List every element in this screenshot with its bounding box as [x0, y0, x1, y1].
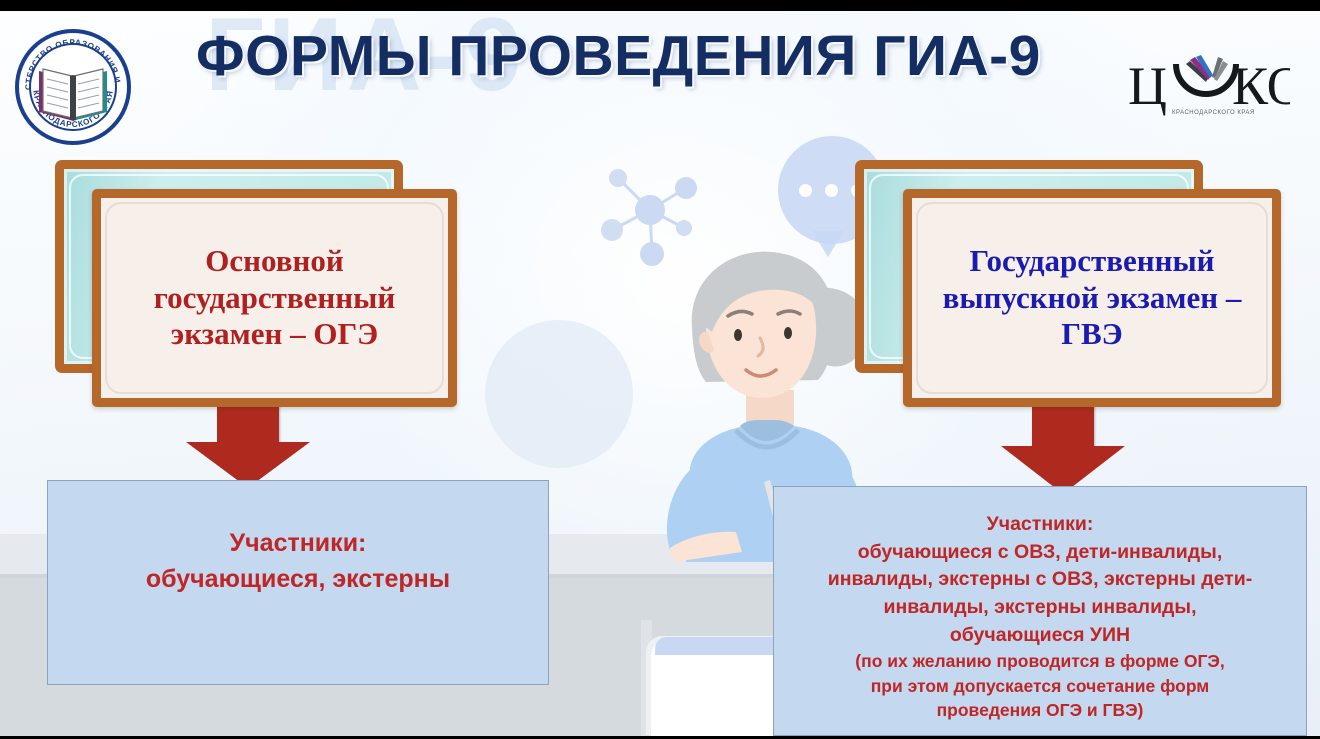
letterbox-top [0, 0, 1320, 11]
down-arrow-icon-right [1000, 392, 1125, 496]
card-oge-label: Основной государственный экзамен – ОГЭ [121, 243, 428, 354]
circle-decoration [485, 320, 633, 468]
participants-right-note: (по их желанию проводится в форме ОГЭ, [774, 649, 1306, 674]
participants-right-line: инвалиды, экстерны инвалиды, [774, 594, 1306, 622]
participants-right-note: проведения ОГЭ и ГВЭ) [774, 698, 1306, 723]
cko-letter-ts: Ц [1128, 56, 1167, 116]
cko-logo: Ц КО КРАСНОДАРСКОГО КРАЯ [1128, 48, 1290, 122]
card-gve-group: Государственный выпускной экзамен – ГВЭ [855, 160, 1305, 400]
participants-box-gve: Участники: обучающиеся с ОВЗ, дети-инвал… [773, 486, 1307, 736]
participants-box-oge: Участники: обучающиеся, экстерны [47, 480, 549, 685]
card-gve-label: Государственный выпускной экзамен – ГВЭ [932, 243, 1252, 354]
cko-subtext: КРАСНОДАРСКОГО КРАЯ [1172, 110, 1255, 116]
ministry-of-education-krasnodar-logo: МИНИСТЕРСТВО ОБРАЗОВАНИЯ И НАУКИ КРАСНОД… [12, 26, 134, 148]
card-gve[interactable]: Государственный выпускной экзамен – ГВЭ [903, 189, 1281, 407]
participants-right-line: обучающиеся с ОВЗ, дети-инвалиды, [774, 539, 1306, 567]
card-oge-group: Основной государственный экзамен – ОГЭ [55, 160, 495, 400]
participants-left-body: обучающиеся, экстерны [146, 565, 450, 593]
participants-right-heading: Участники: [774, 511, 1306, 539]
page-title: ФОРМЫ ПРОВЕДЕНИЯ ГИА-9 [196, 26, 1096, 88]
open-book-icon [39, 69, 107, 121]
participants-right-line: инвалиды, экстерны с ОВЗ, экстерны дети- [774, 566, 1306, 594]
cko-book-icon [1186, 55, 1228, 82]
participants-right-note: при этом допускается сочетание форм [774, 674, 1306, 699]
slide-root: ГИА-9 [0, 0, 1320, 739]
card-oge[interactable]: Основной государственный экзамен – ОГЭ [92, 189, 457, 407]
participants-right-line: обучающиеся УИН [774, 622, 1306, 650]
cko-letters-ko: КО [1232, 56, 1290, 116]
participants-left-heading: Участники: [48, 525, 548, 561]
